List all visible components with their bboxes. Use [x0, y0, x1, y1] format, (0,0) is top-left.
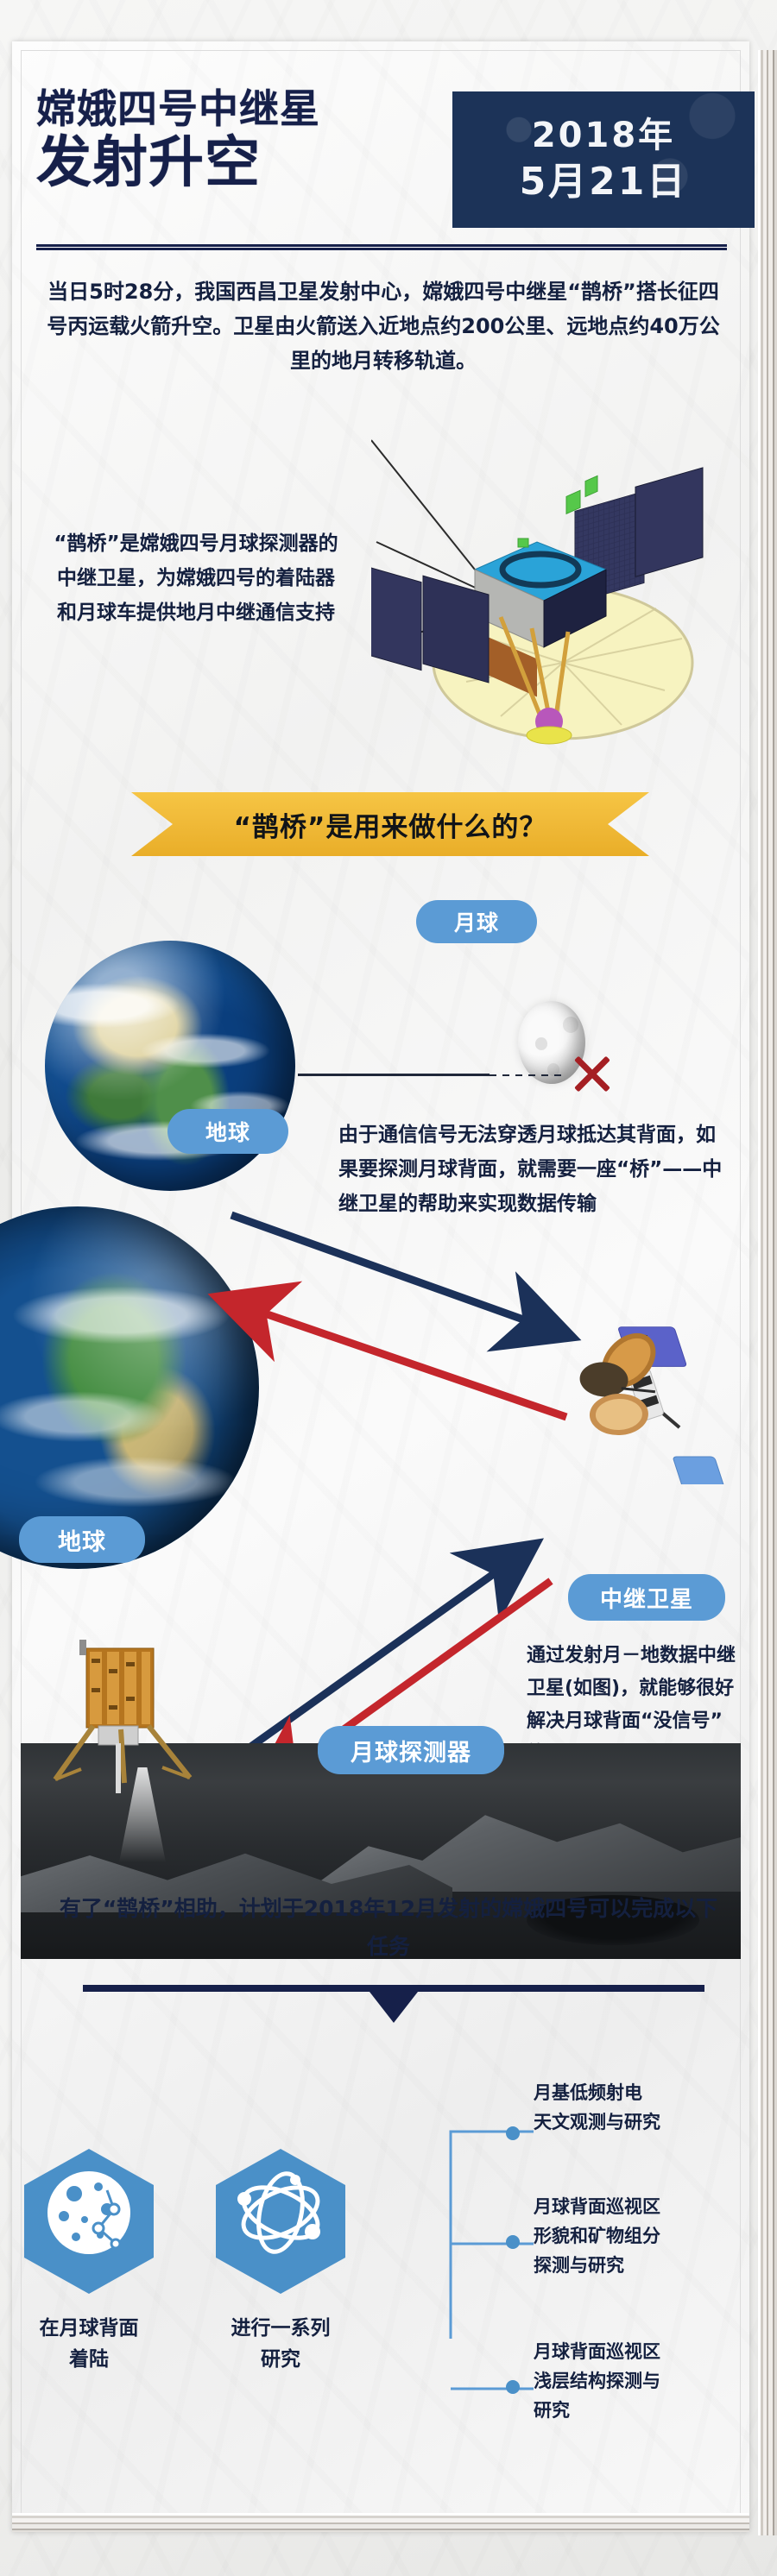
- question-ribbon-banner: “鹊桥”是用来做什么的？: [131, 792, 649, 856]
- intro-paragraph: 当日5时28分，我国西昌卫星发射中心，嫦娥四号中继星“鹊桥”搭长征四号丙运载火箭…: [40, 274, 727, 378]
- moon-crater-icon: [24, 2149, 154, 2294]
- queqiao-relay-satellite-illustration: [371, 431, 734, 777]
- task-bullet-3: 月球背面巡视区 浅层结构探测与 研究: [534, 2337, 739, 2425]
- closing-paragraph: 有了“鹊桥”相助，计划于2018年12月发射的嫦娥四号可以完成以下任务: [52, 1890, 725, 1966]
- header: 嫦娥四号中继星 发射升空 2018年 5月21日: [36, 86, 727, 233]
- task-bullet-dot-3: [506, 2380, 520, 2394]
- task-bullet-dot-2: [506, 2235, 520, 2249]
- closing-divider-rule: [83, 1985, 704, 1992]
- task-hexagon-research: 进行一系列 研究: [216, 2149, 363, 2375]
- label-lunar-probe: 月球探测器: [318, 1726, 504, 1774]
- label-relay-satellite: 中继卫星: [568, 1574, 725, 1621]
- task-bullet-dot-1: [506, 2126, 520, 2140]
- infographic-page: 嫦娥四号中继星 发射升空 2018年 5月21日 当日5时28分，我国西昌卫星发…: [0, 0, 777, 2576]
- label-earth-large: 地球: [19, 1516, 145, 1563]
- page-title: 嫦娥四号中继星 发射升空: [36, 86, 442, 193]
- title-line-2: 发射升空: [36, 133, 442, 193]
- date-day: 5月21日: [520, 161, 688, 204]
- blocked-signal-x-icon: [570, 1051, 615, 1096]
- task-bullet-2: 月球背面巡视区 形貌和矿物组分 探测与研究: [534, 2192, 739, 2280]
- footer-paper-edge: [12, 2513, 749, 2532]
- label-moon: 月球: [416, 900, 537, 943]
- task-hexagon-landing: 在月球背面 着陆: [24, 2149, 171, 2375]
- lunar-lander-illustration: [41, 1640, 205, 1804]
- signal-path-solid: [298, 1074, 490, 1076]
- atom-research-icon: [216, 2149, 345, 2294]
- header-divider-rule: [36, 244, 727, 250]
- ribbon-label: “鹊桥”是用来做什么的？: [234, 805, 547, 844]
- date-year: 2018年: [532, 116, 675, 155]
- task-bullet-1: 月基低频射电 天文观测与研究: [534, 2078, 739, 2137]
- task-hexagon-landing-label: 在月球背面 着陆: [7, 2313, 171, 2375]
- signal-path-dashed: [490, 1074, 567, 1076]
- task-hexagon-research-label: 进行一系列 研究: [199, 2313, 363, 2375]
- label-earth-top: 地球: [167, 1109, 288, 1154]
- down-caret-icon: [370, 1992, 418, 2023]
- date-badge: 2018年 5月21日: [452, 91, 755, 228]
- satellite-description: “鹊桥”是嫦娥四号月球探测器的中继卫星，为嫦娥四号的着陆器和月球车提供地月中继通…: [54, 526, 338, 630]
- title-line-1: 嫦娥四号中继星: [36, 86, 442, 131]
